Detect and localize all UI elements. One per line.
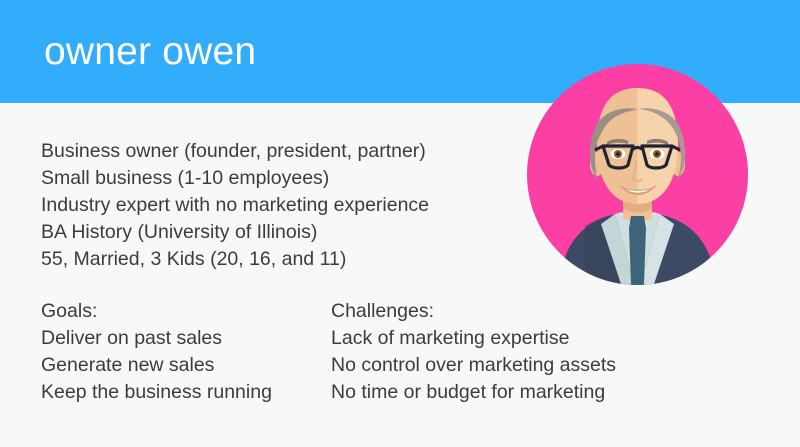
tie-body [629, 228, 646, 285]
bio-line: Small business (1-10 employees) [41, 165, 429, 192]
goals-item: Keep the business running [41, 379, 331, 406]
bio-line: BA History (University of Illinois) [41, 219, 429, 246]
challenges-item: Lack of marketing expertise [331, 325, 731, 352]
avatar [527, 64, 748, 285]
tie-knot [629, 216, 646, 228]
goals-challenges-columns: Goals: Deliver on past sales Generate ne… [41, 298, 741, 406]
pupil-left [616, 152, 620, 156]
page-title: owner owen [44, 27, 256, 77]
bio-line: Business owner (founder, president, part… [41, 138, 429, 165]
goals-heading: Goals: [41, 298, 331, 325]
bio-line: 55, Married, 3 Kids (20, 16, and 11) [41, 246, 429, 273]
bio-block: Business owner (founder, president, part… [41, 138, 429, 273]
pupil-right [655, 152, 659, 156]
goals-column: Goals: Deliver on past sales Generate ne… [41, 298, 331, 406]
goals-item: Generate new sales [41, 352, 331, 379]
challenges-heading: Challenges: [331, 298, 731, 325]
challenges-column: Challenges: Lack of marketing expertise … [331, 298, 731, 406]
bio-line: Industry expert with no marketing experi… [41, 192, 429, 219]
challenges-item: No control over marketing assets [331, 352, 731, 379]
challenges-item: No time or budget for marketing [331, 379, 731, 406]
persona-card: owner owen [0, 0, 800, 447]
goals-item: Deliver on past sales [41, 325, 331, 352]
avatar-illustration [527, 64, 748, 285]
